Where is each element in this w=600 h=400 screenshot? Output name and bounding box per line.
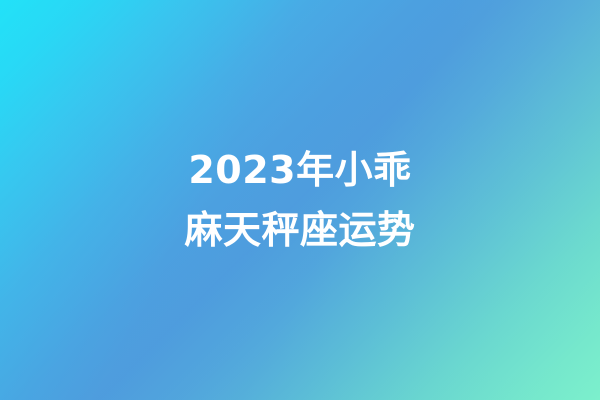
banner-text-block: 2023年小乖 麻天秤座运势 xyxy=(0,0,600,400)
banner-image: 2023年小乖 麻天秤座运势 xyxy=(0,0,600,400)
banner-title-line-2: 麻天秤座运势 xyxy=(184,200,415,260)
banner-title-line-1: 2023年小乖 xyxy=(188,140,411,200)
